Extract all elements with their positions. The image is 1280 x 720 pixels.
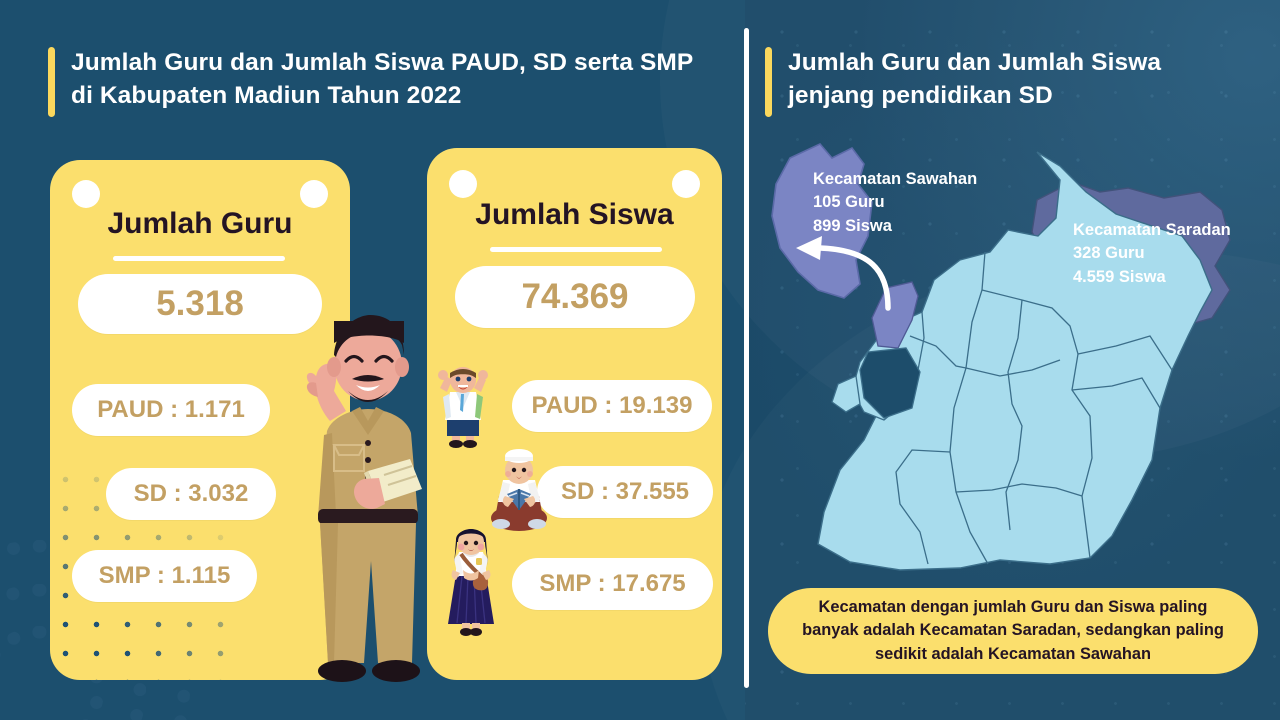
pin-hole-left bbox=[72, 180, 100, 208]
map-label-saradan-guru: 328 Guru bbox=[1073, 242, 1231, 265]
pin-hole-left bbox=[449, 170, 477, 198]
pin-hole-right bbox=[300, 180, 328, 208]
student-girl-illustration bbox=[443, 522, 499, 638]
card-guru-heading: Jumlah Guru bbox=[50, 207, 350, 241]
map-label-saradan: Kecamatan Saradan 328 Guru 4.559 Siswa bbox=[1073, 219, 1231, 289]
map-label-sawahan-guru: 105 Guru bbox=[813, 191, 977, 214]
card-guru-sd: SD : 3.032 bbox=[106, 468, 276, 520]
map-kabupaten-madiun: Kecamatan Sawahan 105 Guru 899 Siswa Kec… bbox=[760, 140, 1265, 585]
card-guru-rule bbox=[113, 256, 285, 261]
map-label-sawahan: Kecamatan Sawahan 105 Guru 899 Siswa bbox=[813, 168, 977, 238]
title-accent-bar bbox=[48, 47, 55, 117]
map-caption: Kecamatan dengan jumlah Guru dan Siswa p… bbox=[768, 588, 1258, 674]
card-siswa-smp: SMP : 17.675 bbox=[512, 558, 713, 610]
pin-hole-right bbox=[672, 170, 700, 198]
infographic-canvas: Jumlah Guru dan Jumlah Siswa PAUD, SD se… bbox=[0, 0, 1280, 720]
card-siswa-heading: Jumlah Siswa bbox=[427, 198, 722, 232]
map-label-saradan-name: Kecamatan Saradan bbox=[1073, 219, 1231, 242]
map-region-west-tip bbox=[832, 376, 860, 412]
left-title-block: Jumlah Guru dan Jumlah Siswa PAUD, SD se… bbox=[48, 47, 708, 117]
right-title-block: Jumlah Guru dan Jumlah Siswa jenjang pen… bbox=[765, 47, 1235, 117]
left-title-text: Jumlah Guru dan Jumlah Siswa PAUD, SD se… bbox=[71, 47, 708, 117]
card-guru-smp: SMP : 1.115 bbox=[72, 550, 257, 602]
student-boy-cheering-illustration bbox=[432, 362, 494, 448]
card-siswa-sd: SD : 37.555 bbox=[537, 466, 713, 518]
map-label-saradan-siswa: 4.559 Siswa bbox=[1073, 266, 1231, 289]
card-guru-paud: PAUD : 1.171 bbox=[72, 384, 270, 436]
card-siswa-rule bbox=[490, 247, 662, 252]
card-siswa-total: 74.369 bbox=[455, 266, 695, 328]
map-label-sawahan-name: Kecamatan Sawahan bbox=[813, 168, 977, 191]
right-title-text: Jumlah Guru dan Jumlah Siswa jenjang pen… bbox=[788, 47, 1235, 117]
vertical-divider bbox=[744, 28, 749, 688]
card-siswa-paud: PAUD : 19.139 bbox=[512, 380, 712, 432]
student-boy-reading-illustration bbox=[485, 448, 553, 533]
map-label-sawahan-siswa: 899 Siswa bbox=[813, 215, 977, 238]
title-accent-bar bbox=[765, 47, 772, 117]
